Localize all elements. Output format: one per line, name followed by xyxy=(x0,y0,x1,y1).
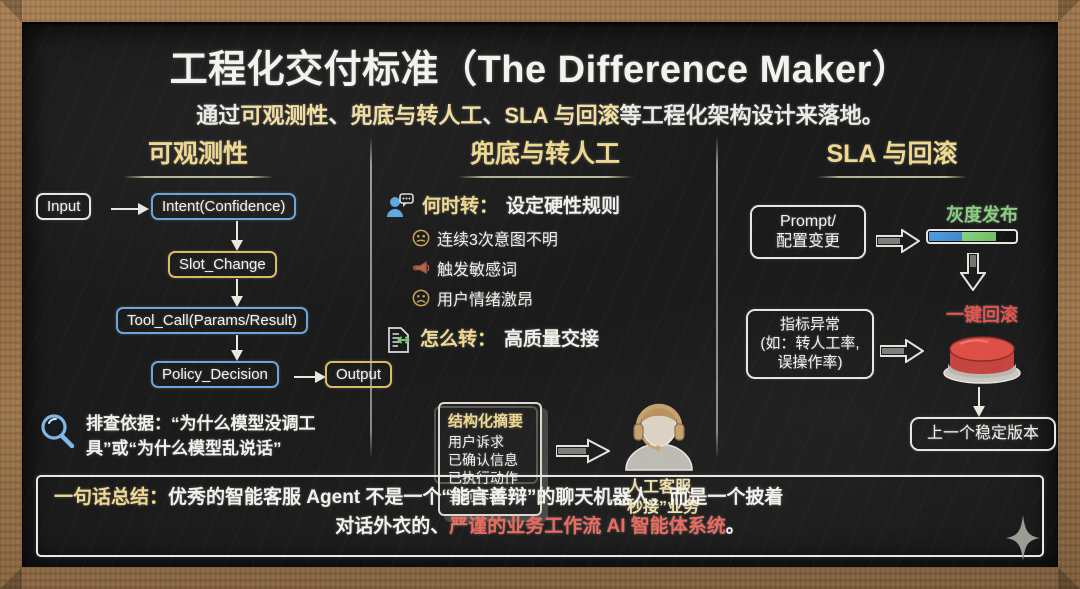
canary-label: 灰度发布 xyxy=(920,201,1044,227)
emergency-button-icon[interactable] xyxy=(936,327,1028,385)
flow-node-tool-call[interactable]: Tool_Call(Params/Result) xyxy=(116,307,308,334)
magnifier-icon xyxy=(38,412,76,450)
anomaly-line-3: 误操作率) xyxy=(758,354,862,373)
anomaly-line-2: (如：转人工率, xyxy=(758,335,862,354)
arrow-rollback-to-stable-icon xyxy=(972,387,986,417)
list-item-label: 触发敏感词 xyxy=(437,256,517,280)
page-title: 工程化交付标准（The Difference Maker） xyxy=(22,38,1058,93)
fallback-when-row: 何时转： 设定硬性规则 xyxy=(386,191,712,219)
column-observability: 可观测性 Input Intent(Confidence) Slot_Chang… xyxy=(28,134,368,356)
observability-note: 排查依据：“为什么模型没调工 具”或“为什么模型乱说话” xyxy=(38,412,316,461)
wooden-frame: 工程化交付标准（The Difference Maker） 通过可观测性、兜底与… xyxy=(0,0,1080,589)
observability-note-line-2: 具”或“为什么模型乱说话” xyxy=(86,437,316,462)
megaphone-icon xyxy=(412,259,430,277)
anomaly-line-1: 指标异常 xyxy=(758,316,862,335)
fallback-rules-list: 连续3次意图不明 触发敏感词 xyxy=(412,226,712,310)
list-item: 用户情绪激昂 xyxy=(412,286,712,310)
canary-progress-bar[interactable] xyxy=(926,229,1018,244)
arrow-canary-to-rollback-icon xyxy=(960,253,986,291)
stable-version-label: 上一个稳定版本 xyxy=(927,425,1039,442)
heading-underline xyxy=(817,176,967,178)
fallback-when-value: 设定硬性规则 xyxy=(506,191,620,218)
page-subtitle: 通过可观测性、兜底与转人工、SLA 与回滚等工程化架构设计来落地。 xyxy=(22,98,1058,130)
progress-segment-empty xyxy=(996,232,1015,241)
subtitle-sep-1: 、 xyxy=(328,103,350,128)
list-item: 连续3次意图不明 xyxy=(412,226,712,250)
summary-banner: 一句话总结：优秀的智能客服 Agent 不是一个“能言善辩”的聊天机器人，而是一… xyxy=(36,475,1044,557)
observability-note-line-1: 排查依据：“为什么模型没调工 xyxy=(86,412,316,437)
column-fallback: 兜底与转人工 何时转： 设定硬性规则 xyxy=(378,134,712,480)
arrow-change-to-canary-icon xyxy=(876,229,920,253)
frame-corner-bottom-left xyxy=(0,567,22,589)
fallback-how-label: 怎么转： xyxy=(420,324,496,351)
handoff-diagram: 结构化摘要 用户诉求 已确认信息 已执行动作 当前卡点 xyxy=(378,360,712,480)
flow-node-slot-change[interactable]: Slot_Change xyxy=(168,251,277,278)
heading-underline xyxy=(457,176,633,178)
column-heading-label: 可观测性 xyxy=(148,140,248,168)
progress-segment-green xyxy=(962,232,996,241)
headset-agent-icon xyxy=(616,400,702,476)
subtitle-highlight-fallback: 兜底与转人工 xyxy=(350,103,482,128)
columns-region: 可观测性 Input Intent(Confidence) Slot_Chang… xyxy=(22,134,1058,466)
column-heading-label: 兜底与转人工 xyxy=(470,140,620,168)
column-sla: SLA 与回滚 Prompt/ 配置变更 灰度发布 xyxy=(724,134,1058,481)
frame-corner-top-left xyxy=(0,0,22,22)
column-heading-label: SLA 与回滚 xyxy=(826,140,957,168)
summary-card-item: 用户诉求 xyxy=(448,434,532,452)
subtitle-sep-2: 、 xyxy=(482,103,504,128)
handoff-arrow-icon xyxy=(556,438,610,464)
user-speech-icon xyxy=(386,193,414,219)
arrow-anomaly-to-rollback-icon xyxy=(880,339,924,363)
flow-arrow-intent-to-slot xyxy=(229,221,245,251)
flow-node-input[interactable]: Input xyxy=(36,193,91,220)
frame-corner-top-right xyxy=(1058,0,1080,22)
flow-arrow-tool-to-policy xyxy=(229,335,245,361)
fallback-how-row: 怎么转： 高质量交接 xyxy=(386,324,712,354)
column-divider-1 xyxy=(370,138,372,456)
anomaly-box[interactable]: 指标异常 (如：转人工率, 误操作率) xyxy=(746,309,874,379)
heading-underline xyxy=(123,176,273,178)
progress-segment-blue xyxy=(929,232,962,241)
column-divider-2 xyxy=(716,138,718,456)
list-item-label: 用户情绪激昂 xyxy=(437,286,533,310)
subtitle-highlight-observability: 可观测性 xyxy=(240,103,328,128)
list-item-label: 连续3次意图不明 xyxy=(437,226,558,250)
flow-arrow-slot-to-tool xyxy=(229,279,245,307)
summary-card-item: 已确认信息 xyxy=(448,452,532,470)
chalkboard: 工程化交付标准（The Difference Maker） 通过可观测性、兜底与… xyxy=(22,22,1058,567)
summary-line-2-suffix: 。 xyxy=(726,516,745,537)
summary-accent-text: 严谨的业务工作流 AI 智能体系统 xyxy=(449,516,726,537)
subtitle-prefix: 通过 xyxy=(196,103,240,128)
observability-flowchart: Input Intent(Confidence) Slot_Change Too… xyxy=(28,191,368,356)
summary-line-1-text: 优秀的智能客服 Agent 不是一个“能言善辩”的聊天机器人，而是一个披着 xyxy=(168,487,783,508)
column-heading-fallback: 兜底与转人工 xyxy=(378,134,712,183)
summary-lead-label: 一句话总结： xyxy=(54,487,168,508)
list-item: 触发敏感词 xyxy=(412,256,712,280)
flow-node-policy-decision[interactable]: Policy_Decision xyxy=(151,361,279,388)
stable-version-box[interactable]: 上一个稳定版本 xyxy=(910,417,1056,451)
fallback-how-value: 高质量交接 xyxy=(504,324,599,351)
confused-face-icon xyxy=(412,229,430,247)
summary-card-title: 结构化摘要 xyxy=(448,410,532,431)
frame-corner-bottom-right xyxy=(1058,567,1080,589)
sla-diagram: Prompt/ 配置变更 灰度发布 xyxy=(724,191,1058,481)
flow-arrow-input-to-intent xyxy=(111,201,149,217)
subtitle-suffix: 等工程化架构设计来落地。 xyxy=(620,103,884,128)
rollback-label: 一键回滚 xyxy=(918,301,1046,327)
flow-node-intent[interactable]: Intent(Confidence) xyxy=(151,193,296,220)
frowning-face-icon xyxy=(412,289,430,307)
summary-line-2: 对话外衣的、严谨的业务工作流 AI 智能体系统。 xyxy=(54,513,1026,542)
document-transfer-icon xyxy=(386,326,412,354)
summary-line-1: 一句话总结：优秀的智能客服 Agent 不是一个“能言善辩”的聊天机器人，而是一… xyxy=(54,484,1026,513)
column-heading-sla: SLA 与回滚 xyxy=(724,134,1058,183)
change-box-line-2: 配置变更 xyxy=(762,232,854,252)
sparkle-icon xyxy=(1006,515,1040,561)
flow-arrow-policy-to-output xyxy=(294,369,326,385)
column-heading-observability: 可观测性 xyxy=(28,134,368,183)
fallback-when-label: 何时转： xyxy=(422,191,498,218)
summary-line-2-prefix: 对话外衣的、 xyxy=(335,516,449,537)
change-box[interactable]: Prompt/ 配置变更 xyxy=(750,205,866,259)
change-box-line-1: Prompt/ xyxy=(762,212,854,232)
subtitle-highlight-sla: SLA 与回滚 xyxy=(504,103,619,128)
